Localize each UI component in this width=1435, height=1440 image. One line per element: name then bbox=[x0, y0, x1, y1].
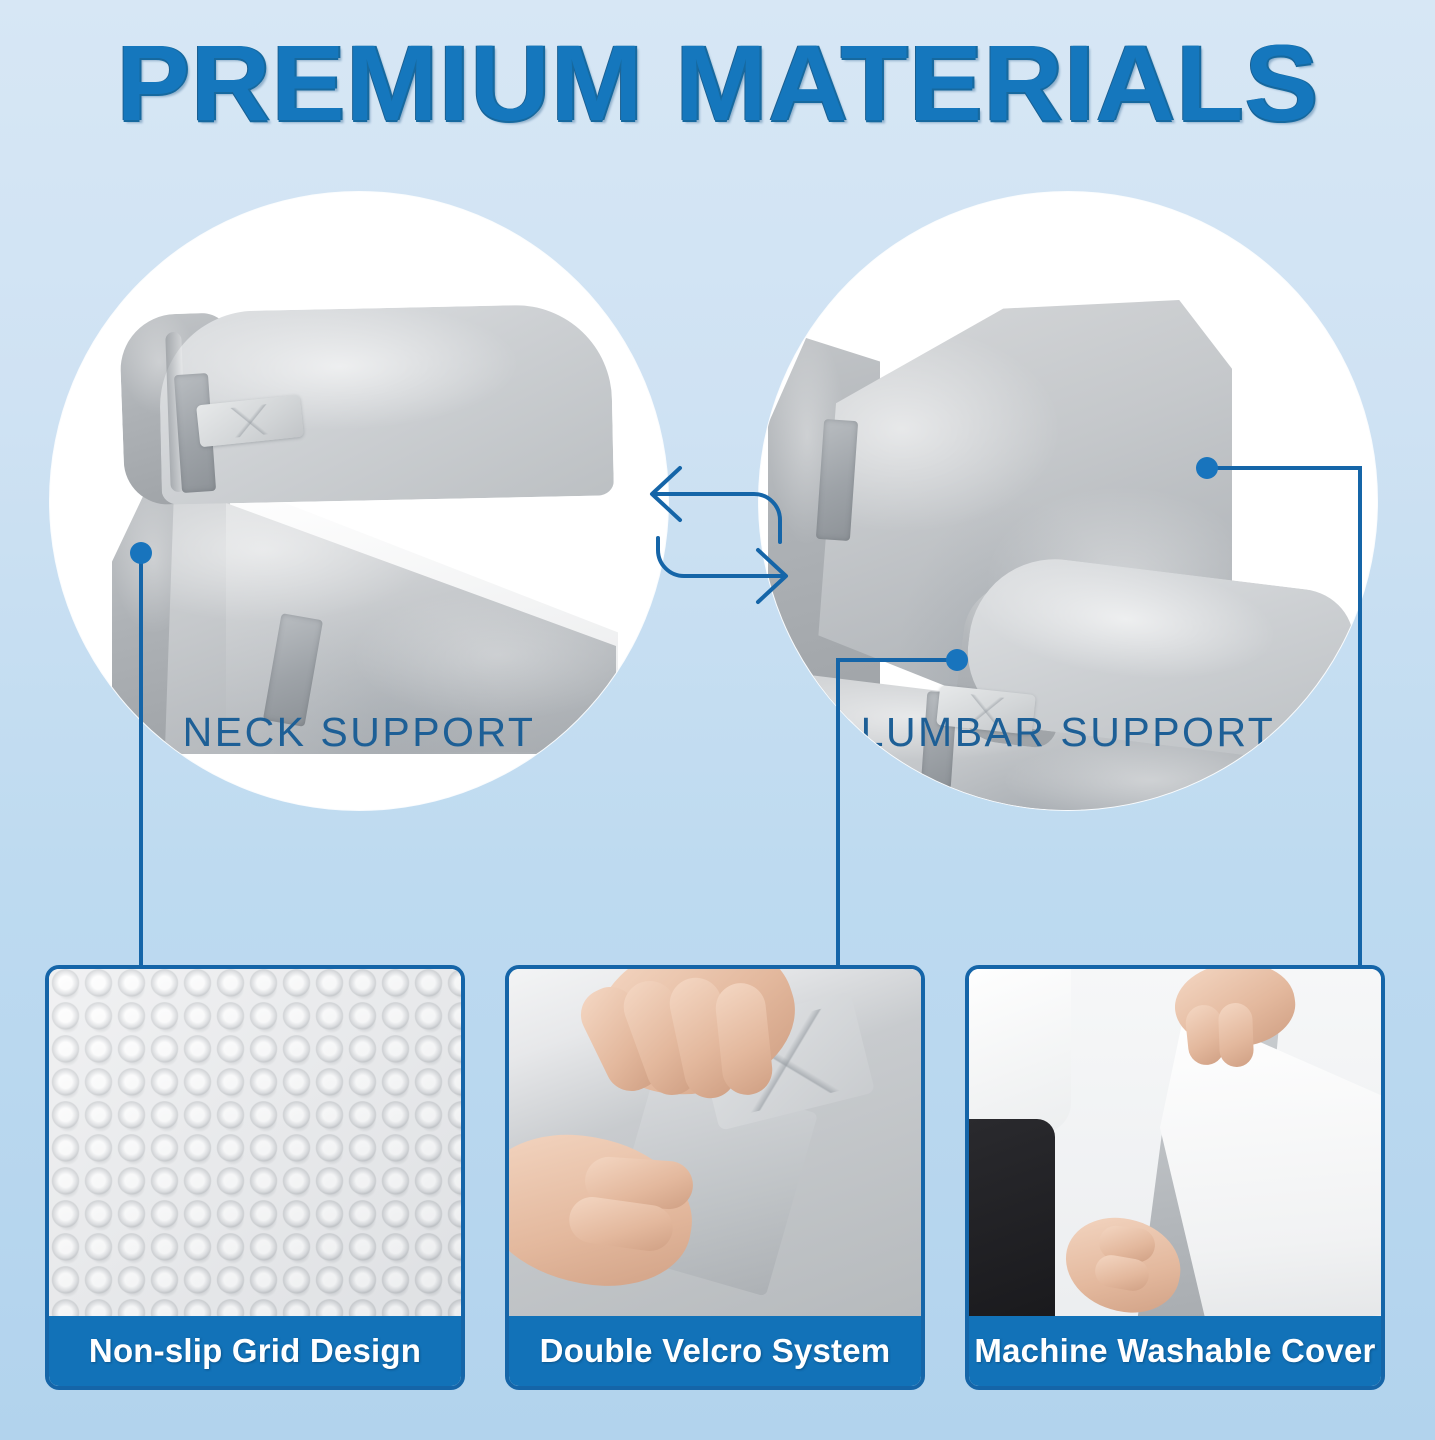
feature-panel-velcro[interactable]: Double Velcro System bbox=[505, 965, 925, 1390]
showcase-circle-lumbar: LUMBAR SUPPORT bbox=[759, 192, 1377, 810]
circle-label-neck: NECK SUPPORT bbox=[50, 709, 668, 756]
washable-cover-scene bbox=[969, 969, 1381, 1316]
feature-panel-grid[interactable]: Non-slip Grid Design bbox=[45, 965, 465, 1390]
page-header: PREMIUM MATERIALS bbox=[0, 28, 1435, 138]
feature-caption-velcro: Double Velcro System bbox=[509, 1316, 921, 1386]
non-slip-grid-texture bbox=[49, 969, 461, 1316]
feature-panel-cover[interactable]: Machine Washable Cover bbox=[965, 965, 1385, 1390]
person-shirt bbox=[969, 969, 1071, 1133]
swap-arrows-icon bbox=[636, 446, 802, 612]
person-leggings bbox=[969, 1119, 1055, 1316]
feature-caption-text-velcro: Double Velcro System bbox=[540, 1332, 891, 1370]
velcro-scene bbox=[509, 969, 921, 1316]
circle-label-lumbar: LUMBAR SUPPORT bbox=[759, 709, 1377, 756]
feature-caption-text-grid: Non-slip Grid Design bbox=[89, 1332, 421, 1370]
feature-image-grid bbox=[49, 969, 461, 1316]
finger-top-2 bbox=[1218, 1002, 1254, 1067]
feature-caption-grid: Non-slip Grid Design bbox=[49, 1316, 461, 1386]
feature-image-cover bbox=[969, 969, 1381, 1316]
page-title: PREMIUM MATERIALS bbox=[116, 28, 1319, 138]
feature-caption-cover: Machine Washable Cover bbox=[969, 1316, 1381, 1386]
feature-image-velcro bbox=[509, 969, 921, 1316]
feature-caption-text-cover: Machine Washable Cover bbox=[974, 1332, 1375, 1370]
showcase-circle-neck: NECK SUPPORT bbox=[50, 192, 668, 810]
